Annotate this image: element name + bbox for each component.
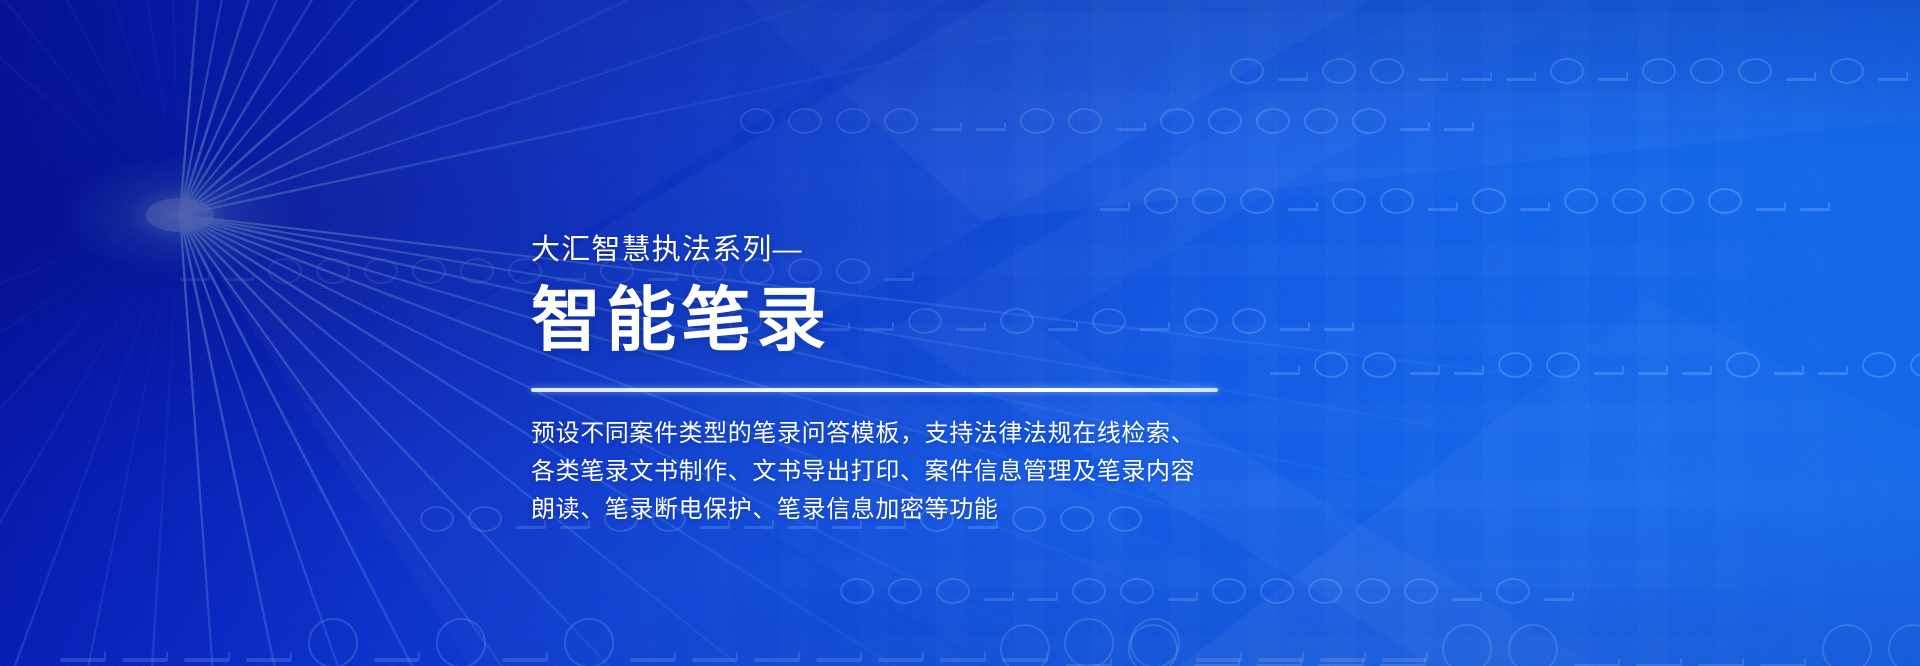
glyph-one [1444, 128, 1474, 131]
glyph-one [754, 658, 800, 662]
description-line-1: 预设不同案件类型的笔录问答模板，支持法律法规在线检索、 [531, 415, 1291, 453]
glyph-zero [1822, 624, 1872, 666]
glyph-one [1638, 372, 1668, 375]
glyph-one [1100, 208, 1130, 211]
glyph-one [1418, 78, 1448, 81]
glyph-row [1270, 352, 1920, 378]
glyph-row-large [1000, 624, 1920, 666]
glyph-one [1520, 208, 1550, 211]
glyph-zero [1068, 108, 1102, 134]
glyph-zero [308, 618, 358, 666]
glyph-zero [1726, 352, 1760, 378]
glyph-zero [1000, 624, 1050, 666]
glyph-zero [1564, 188, 1598, 214]
glyph-one [1320, 658, 1366, 662]
glyph-zero [1332, 188, 1366, 214]
glyph-one [60, 658, 106, 662]
glyph-zero [1230, 58, 1264, 84]
glyph-one [1454, 372, 1484, 375]
glyph-one [976, 128, 1006, 131]
glyph-zero [1642, 58, 1676, 84]
title-divider [531, 388, 1218, 392]
banner-description: 预设不同案件类型的笔录问答模板，支持法律法规在线检索、 各类笔录文书制作、文书导… [531, 415, 1291, 529]
glyph-zero [1546, 352, 1580, 378]
glyph-zero [1072, 578, 1106, 604]
glyph-zero [316, 258, 350, 284]
glyph-zero [788, 108, 822, 134]
glyph-zero [1160, 108, 1194, 134]
glyph-one [374, 658, 420, 662]
glyph-one [1462, 78, 1492, 81]
glyph-zero [1308, 578, 1342, 604]
glyph-one [1506, 78, 1536, 81]
glyph-row [1100, 188, 1830, 214]
glyph-one [1756, 208, 1786, 211]
glyph-one [180, 278, 210, 281]
glyph-one [940, 658, 986, 662]
glyph-zero [1208, 108, 1242, 134]
glyph-zero [1352, 108, 1386, 134]
glyph-one [878, 658, 924, 662]
glyph-row-large [60, 618, 1428, 666]
glyph-one [1818, 372, 1848, 375]
glyph-one [1682, 372, 1712, 375]
glyph-zero [888, 578, 922, 604]
glyph-zero [1020, 108, 1054, 134]
glyph-zero [1888, 624, 1920, 666]
banner-title: 智能笔录 [531, 285, 1291, 355]
glyph-one [122, 658, 168, 662]
glyph-one [1598, 78, 1628, 81]
glyph-zero [1212, 578, 1246, 604]
glyph-zero [1120, 578, 1154, 604]
promo-banner: 大汇智慧执法系列— 智能笔录 预设不同案件类型的笔录问答模板，支持法律法规在线检… [0, 0, 1920, 666]
glyph-zero [836, 108, 870, 134]
glyph-one [932, 128, 962, 131]
glyph-zero [1304, 108, 1338, 134]
glyph-row [840, 578, 1574, 604]
glyph-one [1168, 598, 1198, 601]
glyph-zero [1442, 624, 1492, 666]
glyph-one [1028, 598, 1058, 601]
glyph-one [1258, 658, 1304, 662]
glyph-zero [1404, 578, 1438, 604]
glyph-zero [1130, 618, 1180, 666]
glyph-one [816, 658, 862, 662]
description-line-3: 朗读、笔录断电保护、笔录信息加密等功能 [531, 491, 1291, 529]
glyph-zero [884, 108, 918, 134]
glyph-zero [1550, 58, 1584, 84]
glyph-zero [460, 258, 494, 284]
glyph-zero [1830, 58, 1864, 84]
glyph-zero [1472, 188, 1506, 214]
glyph-one [1452, 598, 1482, 601]
glyph-zero [1128, 624, 1178, 666]
glyph-one [246, 658, 292, 662]
glyph-one [1410, 372, 1440, 375]
glyph-zero [364, 258, 398, 284]
glyph-zero [1314, 352, 1348, 378]
glyph-one [1400, 128, 1430, 131]
glyph-one [224, 278, 254, 281]
glyph-zero [1260, 578, 1294, 604]
glyph-zero [1256, 108, 1290, 134]
glyph-zero [468, 506, 502, 532]
glyph-one [1278, 78, 1308, 81]
glyph-zero [436, 618, 486, 666]
glyph-zero [1708, 188, 1742, 214]
glyph-zero [1144, 188, 1178, 214]
glyph-zero [1690, 58, 1724, 84]
glyph-zero [1322, 58, 1356, 84]
glyph-zero [1370, 58, 1404, 84]
glyph-one [1800, 208, 1830, 211]
glyph-zero [1910, 352, 1920, 378]
glyph-zero [1612, 188, 1646, 214]
glyph-zero [740, 108, 774, 134]
glyph-row [740, 108, 1474, 134]
glyph-zero [1362, 352, 1396, 378]
glyph-one [1786, 78, 1816, 81]
description-line-2: 各类笔录文书制作、文书导出打印、案件信息管理及笔录内容 [531, 453, 1291, 491]
glyph-zero [1240, 188, 1274, 214]
glyph-one [1002, 658, 1048, 662]
glyph-one [184, 658, 230, 662]
glyph-zero [936, 578, 970, 604]
glyph-zero [564, 618, 614, 666]
glyph-zero [1356, 578, 1390, 604]
glyph-zero [1498, 352, 1532, 378]
glyph-zero [1064, 618, 1114, 666]
glyph-zero [1660, 188, 1694, 214]
glyph-zero [1862, 352, 1896, 378]
glyph-one [502, 658, 548, 662]
glyph-zero [268, 258, 302, 284]
glyph-one [1382, 658, 1428, 662]
glyph-zero [1496, 578, 1530, 604]
glyph-one [1288, 208, 1318, 211]
glyph-zero [1508, 624, 1558, 666]
banner-eyebrow: 大汇智慧执法系列— [531, 236, 1291, 265]
glyph-zero [1192, 188, 1226, 214]
glyph-zero [412, 258, 446, 284]
glyph-one [1196, 658, 1242, 662]
glyph-one [692, 658, 738, 662]
glyph-zero [420, 506, 454, 532]
glyph-one [1774, 372, 1804, 375]
glyph-one [1428, 208, 1458, 211]
glyph-one [984, 598, 1014, 601]
glyph-one [1594, 372, 1624, 375]
glyph-one [1544, 598, 1574, 601]
glyph-zero [840, 578, 874, 604]
glyph-one [1878, 78, 1908, 81]
glyph-one [630, 658, 676, 662]
glyph-one [1116, 128, 1146, 131]
glyph-zero [1380, 188, 1414, 214]
glyph-row [1230, 58, 1920, 84]
glyph-one [1324, 328, 1354, 331]
glyph-zero [1738, 58, 1772, 84]
banner-content: 大汇智慧执法系列— 智能笔录 预设不同案件类型的笔录问答模板，支持法律法规在线检… [531, 236, 1291, 529]
